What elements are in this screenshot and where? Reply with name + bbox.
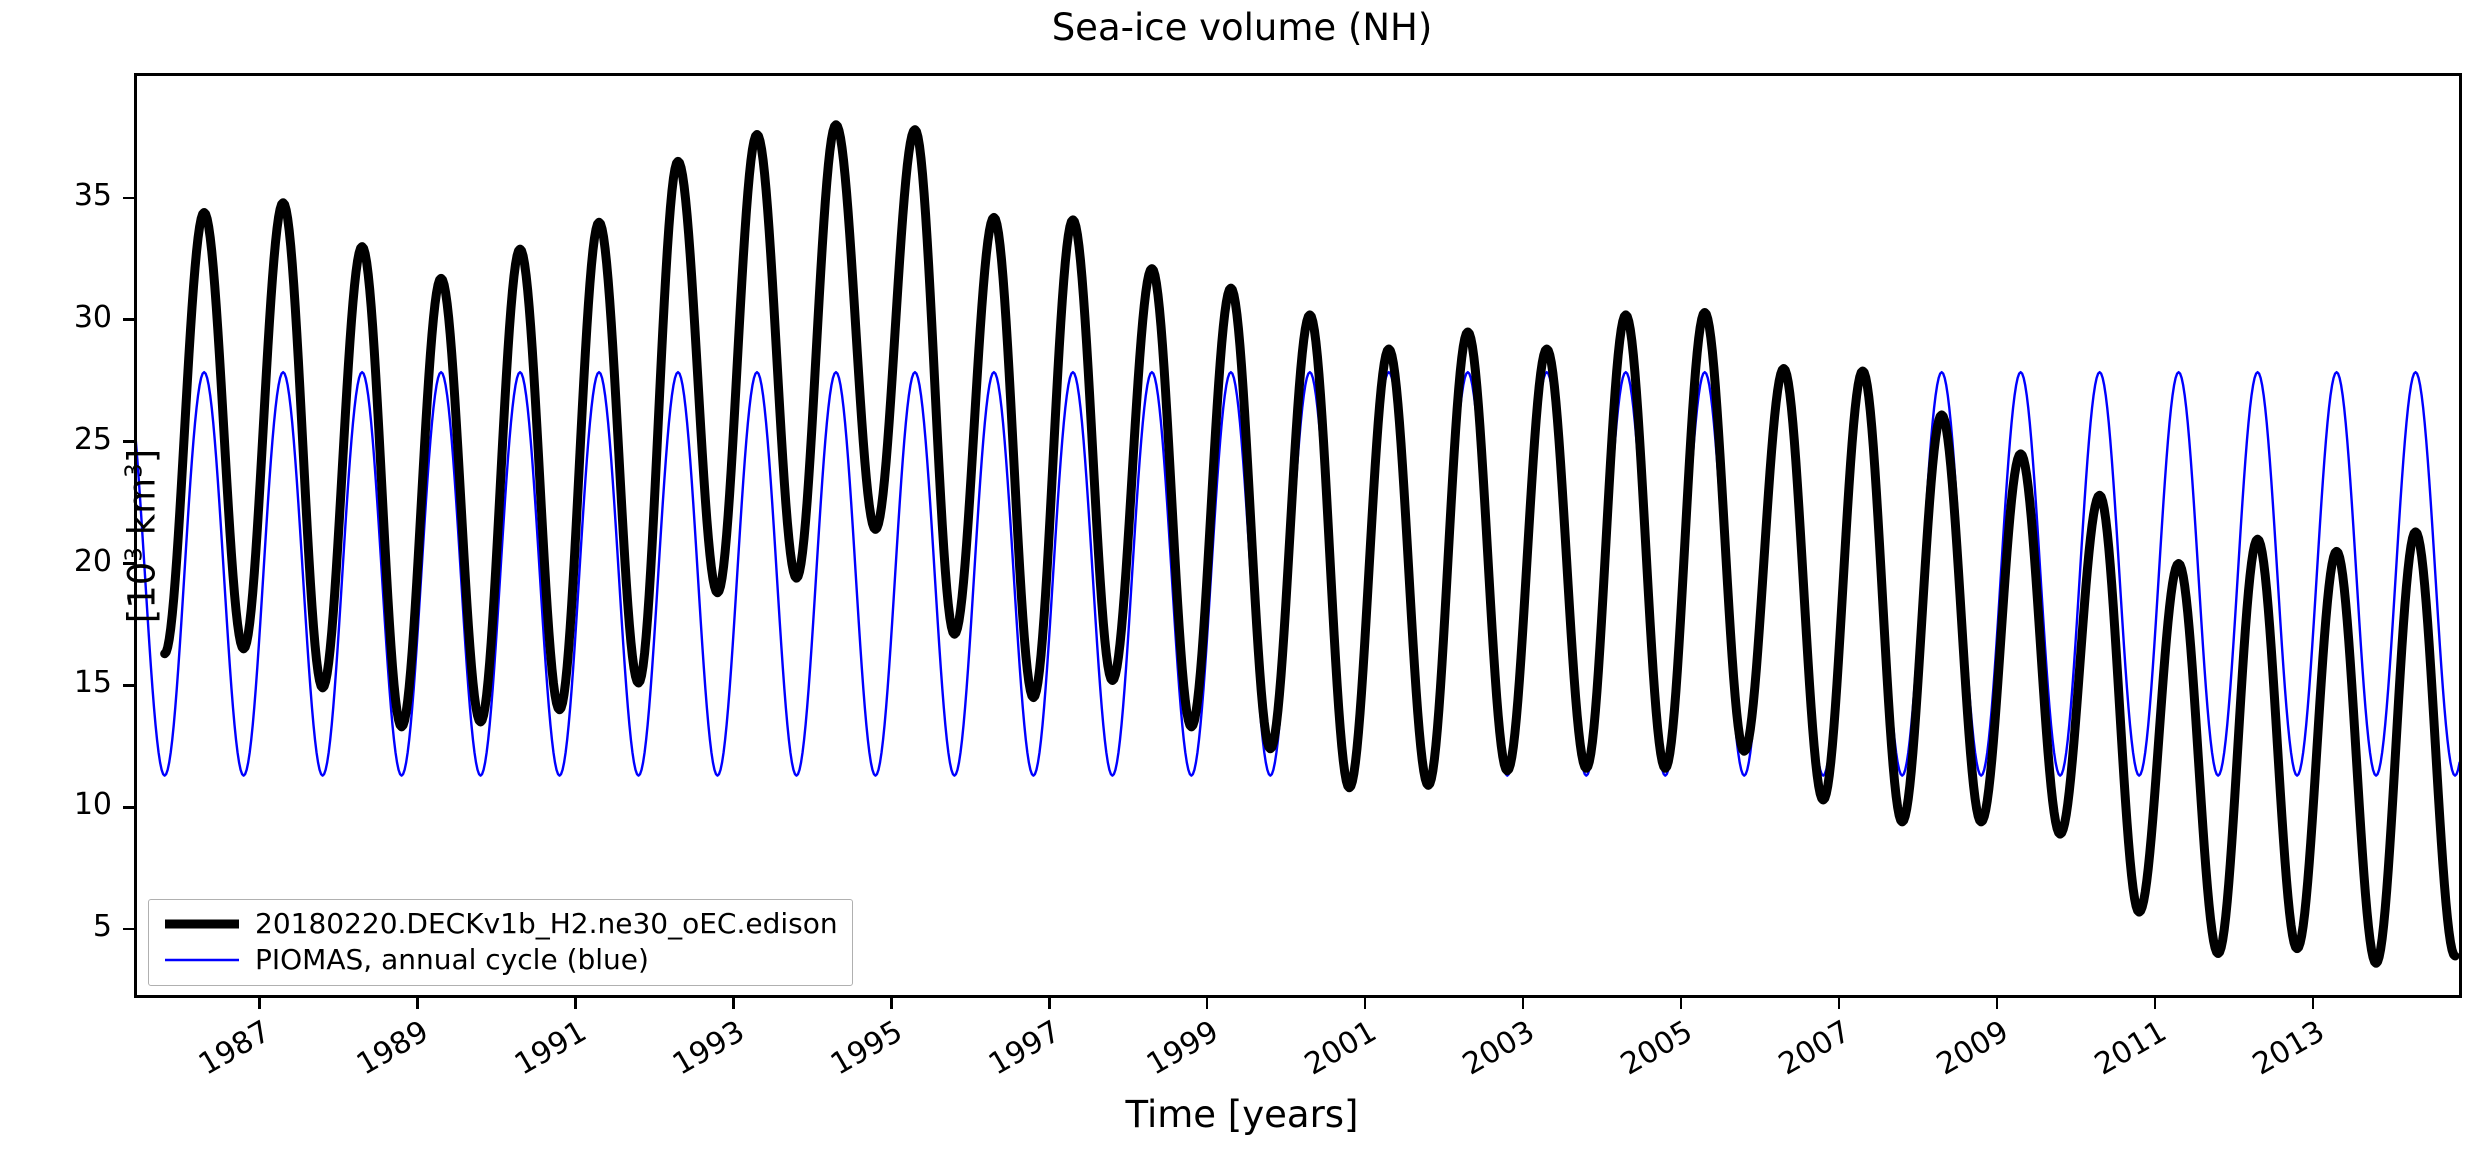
x-tick-label: 2013 (2209, 1014, 2330, 1104)
x-tick-mark (1522, 998, 1525, 1009)
y-tick-label: 20 (0, 544, 112, 579)
y-tick-label: 10 (0, 787, 112, 822)
chart-title: Sea-ice volume (NH) (0, 6, 2484, 49)
legend-item: PIOMAS, annual cycle (blue) (163, 945, 838, 974)
x-tick-label: 2009 (1893, 1014, 2014, 1104)
y-tick-mark (123, 197, 134, 200)
x-tick-label: 1989 (313, 1014, 434, 1104)
x-tick-label: 2011 (2051, 1014, 2172, 1104)
x-tick-label: 1987 (155, 1014, 276, 1104)
y-tick-mark (123, 562, 134, 565)
x-tick-mark (890, 998, 893, 1009)
legend-label-piomas: PIOMAS, annual cycle (blue) (255, 945, 649, 974)
plot-area: [103 km3] (134, 73, 2462, 998)
x-tick-mark (1996, 998, 1999, 1009)
y-tick-mark (123, 440, 134, 443)
x-tick-mark (574, 998, 577, 1009)
y-axis-label: [103 km3] (121, 448, 164, 622)
x-tick-mark (1680, 998, 1683, 1009)
x-tick-mark (732, 998, 735, 1009)
figure-canvas: Sea-ice volume (NH) [103 km3] 5101520253… (0, 0, 2484, 1151)
x-axis-label: Time [years] (0, 1093, 2484, 1136)
y-tick-label: 35 (0, 178, 112, 213)
legend-swatch-deck (163, 917, 241, 931)
x-tick-label: 2005 (1577, 1014, 1698, 1104)
legend-line-deck (163, 917, 241, 931)
x-tick-label: 1995 (787, 1014, 908, 1104)
x-tick-label: 2001 (1261, 1014, 1382, 1104)
chart-legend: 20180220.DECKv1b_H2.ne30_oEC.edison PIOM… (148, 899, 853, 986)
x-tick-mark (2154, 998, 2157, 1009)
x-tick-mark (1206, 998, 1209, 1009)
x-tick-mark (2312, 998, 2315, 1009)
y-tick-mark (123, 928, 134, 931)
x-tick-mark (258, 998, 261, 1009)
x-tick-label: 1999 (1103, 1014, 1224, 1104)
legend-item: 20180220.DECKv1b_H2.ne30_oEC.edison (163, 909, 838, 938)
plot-svg (137, 76, 2459, 995)
x-tick-mark (1048, 998, 1051, 1009)
x-tick-label: 1997 (945, 1014, 1066, 1104)
x-tick-label: 2007 (1735, 1014, 1856, 1104)
x-tick-label: 1991 (471, 1014, 592, 1104)
legend-swatch-piomas (163, 953, 241, 967)
y-tick-label: 15 (0, 665, 112, 700)
x-tick-label: 1993 (629, 1014, 750, 1104)
y-tick-label: 25 (0, 422, 112, 457)
legend-line-piomas (163, 953, 241, 967)
x-tick-mark (1838, 998, 1841, 1009)
x-tick-label: 2003 (1419, 1014, 1540, 1104)
legend-label-deck: 20180220.DECKv1b_H2.ne30_oEC.edison (255, 909, 838, 938)
y-tick-label: 30 (0, 300, 112, 335)
y-tick-mark (123, 318, 134, 321)
y-tick-label: 5 (0, 909, 112, 944)
x-tick-mark (416, 998, 419, 1009)
x-tick-mark (1364, 998, 1367, 1009)
series-line-deck (165, 125, 2455, 964)
y-tick-mark (123, 684, 134, 687)
y-tick-mark (123, 806, 134, 809)
